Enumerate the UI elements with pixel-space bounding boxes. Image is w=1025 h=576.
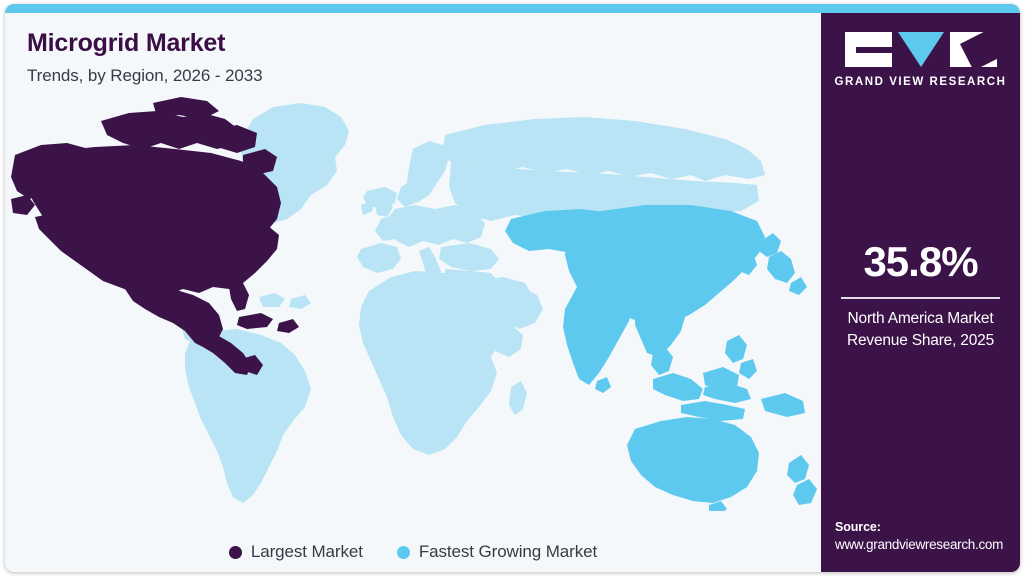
legend-label: Largest Market (251, 542, 363, 562)
source-label: Source: (835, 520, 1020, 534)
map-panel: Microgrid Market Trends, by Region, 2026… (5, 13, 821, 572)
stat-caption-line1: North America Market (821, 308, 1020, 330)
stat-divider (841, 297, 1000, 299)
header: Microgrid Market Trends, by Region, 2026… (27, 30, 262, 86)
source-block: Source: www.grandviewresearch.com (835, 520, 1020, 552)
legend: Largest Market Fastest Growing Market (5, 542, 821, 562)
logo-marks (845, 32, 997, 67)
legend-item-largest-market[interactable]: Largest Market (229, 542, 363, 562)
legend-item-fastest-growing-market[interactable]: Fastest Growing Market (397, 542, 597, 562)
logo-letter-g-icon (845, 32, 892, 67)
logo-letter-v-icon (898, 32, 944, 67)
stat-value: 35.8% (821, 241, 1020, 283)
circle-dot-icon (397, 546, 410, 559)
stat-block: 35.8% North America Market Revenue Share… (821, 241, 1020, 353)
logo-letter-r-icon (950, 32, 997, 67)
world-map-container (5, 91, 821, 511)
top-accent-bar (5, 4, 1020, 13)
world-map-svg (5, 91, 821, 511)
source-url[interactable]: www.grandviewresearch.com (835, 537, 1020, 552)
page-title: Microgrid Market (27, 30, 262, 58)
logo-wordmark: GRAND VIEW RESEARCH (835, 76, 1007, 88)
circle-dot-icon (229, 546, 242, 559)
infographic-card: Microgrid Market Trends, by Region, 2026… (5, 4, 1020, 572)
brand-logo[interactable]: GRAND VIEW RESEARCH (821, 32, 1020, 88)
stat-caption-line2: Revenue Share, 2025 (821, 330, 1020, 352)
side-panel: GRAND VIEW RESEARCH 35.8% North America … (821, 13, 1020, 572)
page-subtitle: Trends, by Region, 2026 - 2033 (27, 66, 262, 86)
legend-label: Fastest Growing Market (419, 542, 597, 562)
